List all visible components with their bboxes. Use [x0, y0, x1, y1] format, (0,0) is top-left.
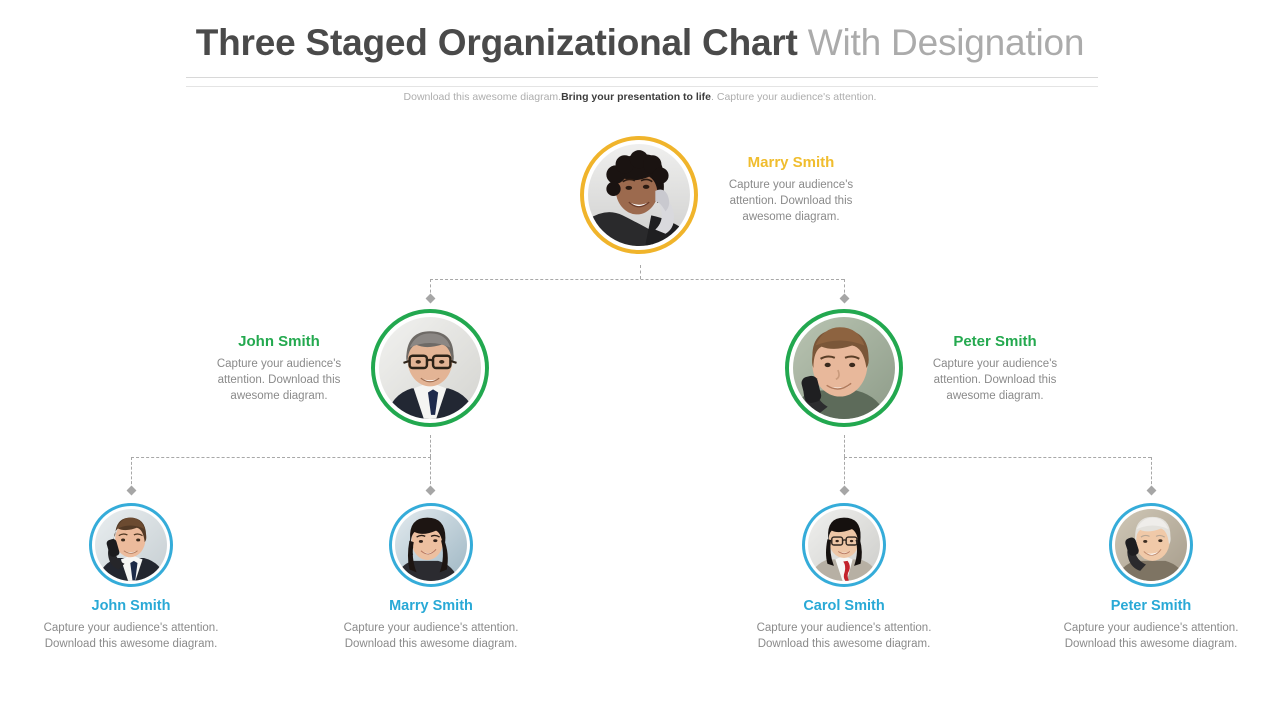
- avatar-image-woman-glasses-blazer: [808, 509, 880, 581]
- avatar-image-woman-dark-hair-smiling: [395, 509, 467, 581]
- connector-to-peter-lvl3: [1151, 457, 1152, 489]
- avatar[interactable]: [802, 503, 886, 587]
- org-node-description: Capture your audience's attention. Downl…: [912, 357, 1078, 405]
- org-node-name: John Smith: [196, 333, 362, 350]
- org-node-description: Capture your audience's attention. Downl…: [335, 621, 527, 653]
- avatar[interactable]: [1109, 503, 1193, 587]
- arrowhead-marry-lvl3: [426, 486, 436, 496]
- avatar-image-woman-curly-hair-phone: [588, 144, 690, 246]
- org-node-text: Marry Smith Capture your audience's atte…: [708, 154, 874, 226]
- org-node-text: Peter Smith Capture your audience's atte…: [1055, 598, 1247, 653]
- title-divider-bottom: [186, 86, 1098, 87]
- org-node-name: John Smith: [35, 598, 227, 614]
- connector-john-stem: [430, 435, 431, 457]
- page-title-secondary: With Designation: [808, 22, 1085, 63]
- avatar-image-man-glasses-suit: [379, 317, 481, 419]
- connector-peter-stem: [844, 435, 845, 457]
- subtitle: Download this awesome diagram.Bring your…: [0, 91, 1280, 103]
- avatar-image-man-suit-phone: [95, 509, 167, 581]
- arrowhead-peter-lvl2: [840, 294, 850, 304]
- connector-level3-bus-left: [131, 457, 431, 458]
- avatar-image-young-man-phone: [793, 317, 895, 419]
- connector-to-marry-lvl3: [430, 457, 431, 489]
- connector-level3-bus-right: [844, 457, 1151, 458]
- org-node-text: Marry Smith Capture your audience's atte…: [335, 598, 527, 653]
- org-node-name: Peter Smith: [1055, 598, 1247, 614]
- connector-root-stem: [640, 265, 641, 279]
- slide-canvas: Three Staged Organizational Chart With D…: [0, 0, 1280, 720]
- title-divider-top: [186, 77, 1098, 78]
- avatar-image-senior-woman-phone: [1115, 509, 1187, 581]
- avatar[interactable]: [89, 503, 173, 587]
- org-node-description: Capture your audience's attention. Downl…: [196, 357, 362, 405]
- org-node-text: John Smith Capture your audience's atten…: [35, 598, 227, 653]
- org-node-description: Capture your audience's attention. Downl…: [708, 178, 874, 226]
- connector-to-john-lvl3: [131, 457, 132, 489]
- connector-level2-bus: [430, 279, 844, 280]
- arrowhead-john-lvl2: [426, 294, 436, 304]
- org-node-text: Peter Smith Capture your audience's atte…: [912, 333, 1078, 405]
- org-node-name: Marry Smith: [335, 598, 527, 614]
- subtitle-emphasis: Bring your presentation to life: [561, 91, 711, 103]
- org-node-description: Capture your audience's attention. Downl…: [748, 621, 940, 653]
- page-title: Three Staged Organizational Chart With D…: [0, 22, 1280, 64]
- org-node-name: Carol Smith: [748, 598, 940, 614]
- subtitle-part-1: Download this awesome diagram.: [404, 91, 562, 103]
- avatar[interactable]: [389, 503, 473, 587]
- avatar[interactable]: [371, 309, 489, 427]
- org-node-name: Marry Smith: [708, 154, 874, 171]
- arrowhead-john-lvl3: [127, 486, 137, 496]
- avatar[interactable]: [580, 136, 698, 254]
- org-node-name: Peter Smith: [912, 333, 1078, 350]
- org-node-text: Carol Smith Capture your audience's atte…: [748, 598, 940, 653]
- connector-to-carol-lvl3: [844, 457, 845, 489]
- page-title-primary: Three Staged Organizational Chart: [196, 22, 798, 63]
- avatar[interactable]: [785, 309, 903, 427]
- org-node-description: Capture your audience's attention. Downl…: [1055, 621, 1247, 653]
- org-node-description: Capture your audience's attention. Downl…: [35, 621, 227, 653]
- arrowhead-carol-lvl3: [840, 486, 850, 496]
- org-node-text: John Smith Capture your audience's atten…: [196, 333, 362, 405]
- arrowhead-peter-lvl3: [1147, 486, 1157, 496]
- subtitle-part-2: . Capture your audience's attention.: [711, 91, 876, 103]
